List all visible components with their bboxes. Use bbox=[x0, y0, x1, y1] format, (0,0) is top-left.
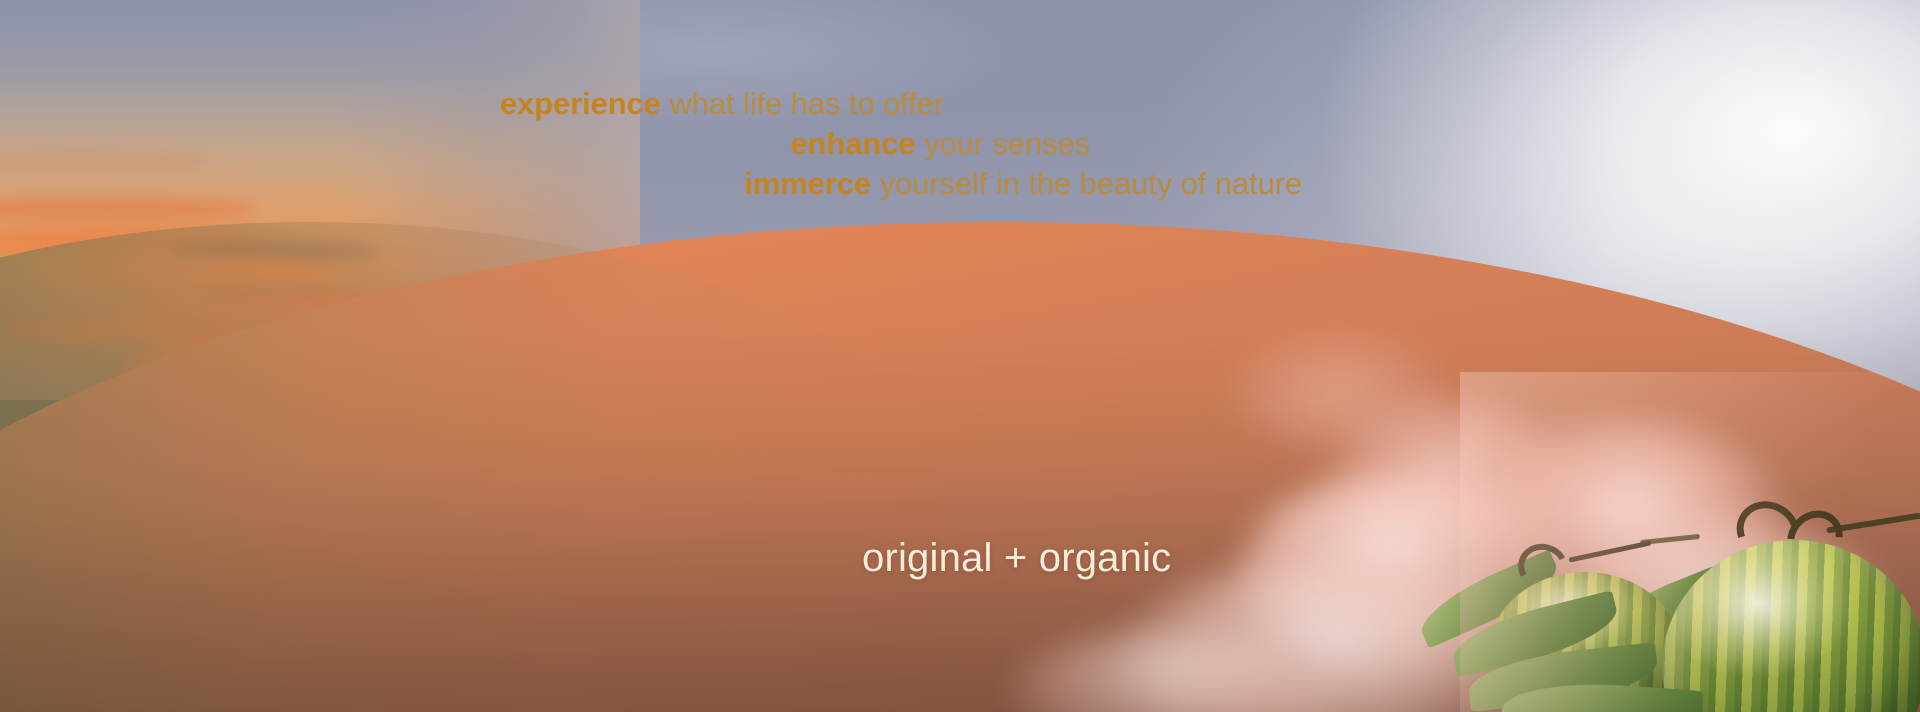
tomato-large bbox=[1662, 540, 1920, 712]
tagline-line-2: enhance your senses bbox=[0, 124, 1330, 164]
slogan-text: original + organic bbox=[862, 536, 1171, 581]
hero-banner: experience what life has to offer enhanc… bbox=[0, 0, 1920, 712]
tagline-line-1: experience what life has to offer bbox=[0, 84, 1330, 124]
heirloom-tomatoes-photo bbox=[1490, 382, 1920, 712]
tagline-emphasis-2: enhance bbox=[790, 126, 915, 161]
tagline-line-3: immerce yourself in the beauty of nature bbox=[0, 164, 1330, 204]
tagline-emphasis-1: experience bbox=[500, 86, 661, 121]
tagline-rest-3: yourself in the beauty of nature bbox=[871, 166, 1302, 201]
tagline-emphasis-3: immerce bbox=[744, 166, 871, 201]
tomato-stem bbox=[1640, 534, 1700, 545]
tagline-rest-1: what life has to offer bbox=[661, 86, 944, 121]
tomato-stem bbox=[1568, 540, 1651, 562]
tagline-rest-2: your senses bbox=[915, 126, 1090, 161]
tagline-block: experience what life has to offer enhanc… bbox=[0, 84, 1330, 204]
